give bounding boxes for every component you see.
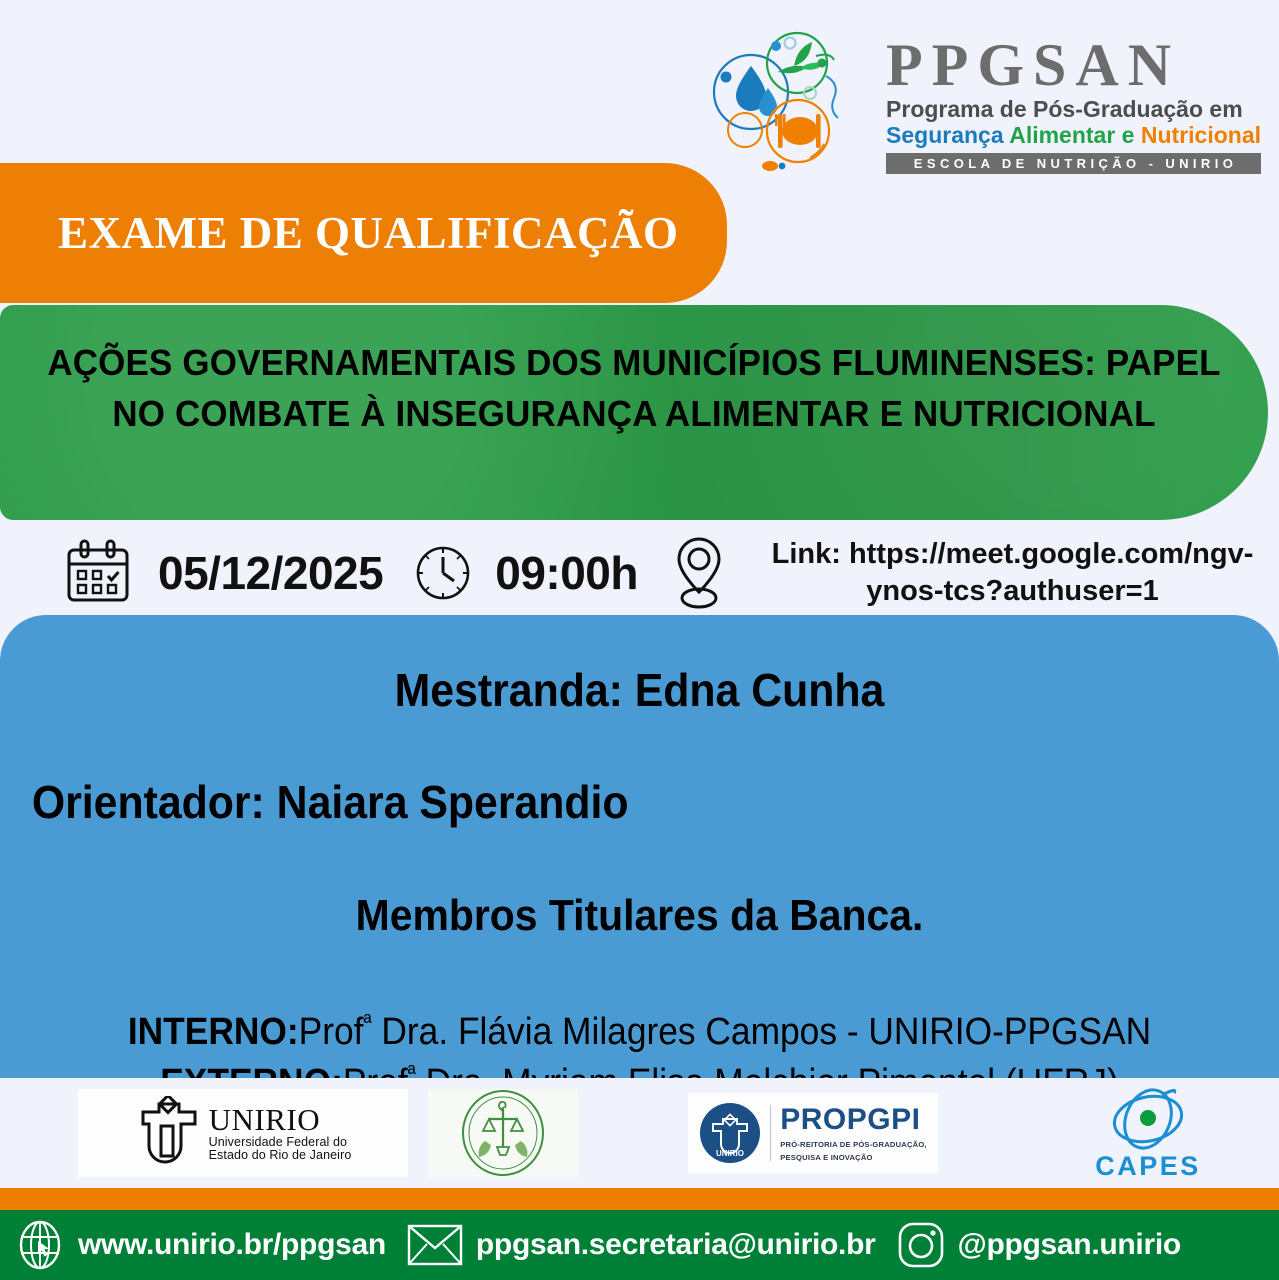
brand-line2-seg4: N [1141,122,1158,148]
date-item: 05/12/2025 [62,538,383,608]
event-date: 05/12/2025 [158,546,383,600]
globe-icon [14,1219,66,1271]
partner-logos-strip: UNIRIO Universidade Federal do Estado do… [0,1078,1279,1188]
propgpi-divider [770,1105,771,1161]
clock-icon [413,543,473,603]
board-member-internal-prefix: Prof [299,1011,364,1053]
link-item: Link: https://meet.google.com/ngv-ynos-t… [668,534,1279,612]
thesis-title: AÇÕES GOVERNAMENTAIS DOS MUNICÍPIOS FLUM… [47,337,1221,439]
footer-orange-strip [0,1188,1279,1210]
website-text[interactable]: www.unirio.br/ppgsan [78,1228,386,1262]
email-item[interactable]: ppgsan.secretaria@unirio.br [406,1222,876,1268]
student-line: Mestranda: Edna Cunha [73,663,1207,717]
instagram-icon [896,1220,946,1270]
envelope-icon [406,1222,464,1268]
event-time: 09:00h [495,546,638,600]
brand-line2-seg2: A [1009,122,1026,148]
contact-footer: www.unirio.br/ppgsan ppgsan.secretaria@u… [0,1210,1279,1280]
brand-line2-seg5: utricional [1157,122,1261,148]
board-member-internal-role: INTERNO: [128,1011,299,1053]
brand-line-2: Segurança Alimentar e Nutricional [886,123,1261,149]
event-info-row: 05/12/2025 09:00h [0,528,1279,618]
brand-line2-seg3: limentar e [1026,122,1141,148]
email-text[interactable]: ppgsan.secretaria@unirio.br [476,1228,876,1262]
instagram-text[interactable]: @ppgsan.unirio [958,1228,1181,1262]
instagram-item[interactable]: @ppgsan.unirio [896,1220,1181,1270]
propgpi-name: PROPGPI [780,1103,927,1137]
calendar-icon [62,538,136,608]
capes-swirl-icon [1096,1085,1200,1151]
board-heading: Membros Titulares da Banca. [73,891,1207,941]
unirio-logo: UNIRIO Universidade Federal do Estado do… [78,1089,408,1177]
ppgsan-logo-header: PPGSAN Programa de Pós-Graduação em Segu… [706,30,1261,180]
board-member-internal-name: Dra. Flávia Milagres Campos - UNIRIO-PPG… [372,1011,1152,1053]
propgpi-badge-label: UNIRIO [716,1149,744,1158]
escola-nutricao-logo [428,1089,578,1177]
school-bar-label: ESCOLA DE NUTRIÇÃO - UNIRIO [886,153,1261,174]
capes-name: CAPES [1095,1151,1201,1182]
advisor-line: Orientador: Naiara Sperandio [30,775,1164,829]
brand-acronym: PPGSAN [886,36,1261,95]
website-item[interactable]: www.unirio.br/ppgsan [14,1219,386,1271]
unirio-name: UNIRIO [209,1104,352,1137]
propgpi-logo: UNIRIO PROPGPI PRÓ-REITORIA DE PÓS-GRADU… [688,1093,938,1173]
capes-logo: CAPES [1048,1087,1248,1179]
escola-nutricao-seal-icon [459,1089,547,1177]
brand-line2-seg1: Segurança [886,122,1009,148]
meeting-link[interactable]: Link: https://meet.google.com/ngv-ynos-t… [746,536,1279,610]
propgpi-sub-1: PRÓ-REITORIA DE PÓS-GRADUAÇÃO, [780,1140,927,1150]
ppgsan-emblem-icon [706,30,876,180]
exam-type-label: EXAME DE QUALIFICAÇÃO [0,207,679,259]
location-pin-icon [668,534,730,612]
propgpi-sub-2: PESQUISA E INOVAÇÃO [780,1153,927,1163]
exam-type-banner: EXAME DE QUALIFICAÇÃO [0,163,727,303]
propgpi-unirio-badge-icon: UNIRIO [699,1102,761,1164]
meeting-link-block[interactable]: Link: https://meet.google.com/ngv-ynos-t… [746,536,1279,610]
thesis-title-block: AÇÕES GOVERNAMENTAIS DOS MUNICÍPIOS FLUM… [0,305,1268,520]
time-item: 09:00h [413,543,638,603]
details-panel: Mestranda: Edna Cunha Orientador: Naiara… [0,615,1279,1078]
unirio-sub-2: Estado do Rio de Janeiro [209,1149,352,1162]
board-member-internal: INTERNO:Profª Dra. Flávia Milagres Campo… [73,1007,1207,1058]
poster: PPGSAN Programa de Pós-Graduação em Segu… [0,0,1279,1280]
unirio-emblem-icon [135,1096,203,1170]
brand-line-1: Programa de Pós-Graduação em [886,97,1261,123]
